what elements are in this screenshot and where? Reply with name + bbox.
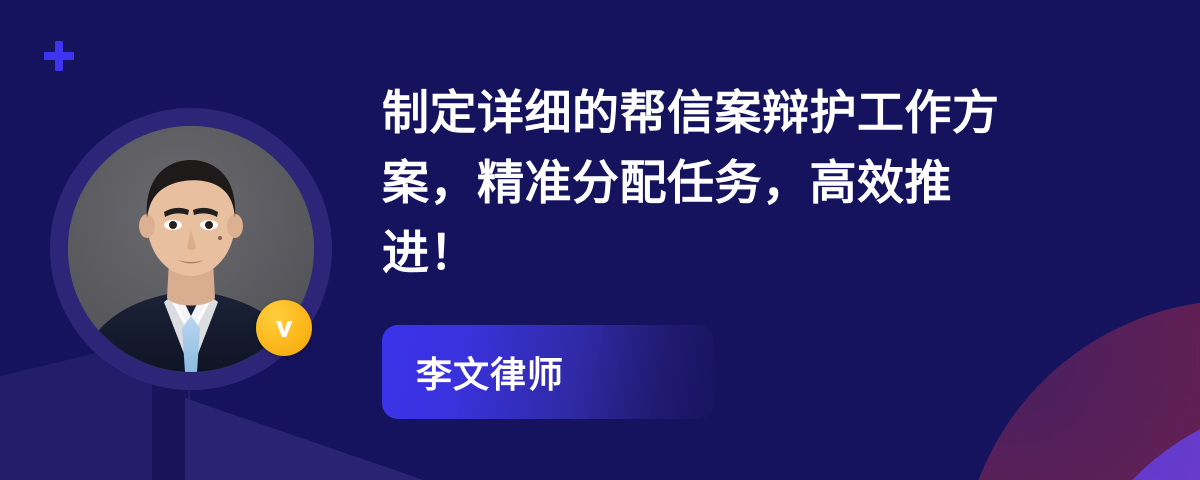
lawyer-name-label: 李文律师 [382,346,564,398]
plus-icon [44,41,74,71]
promo-banner: 制定详细的帮信案辩护工作方案，精准分配任务，高效推进！ 李文律师 [0,0,1200,480]
lawyer-name-badge[interactable]: 李文律师 [382,325,714,419]
page-title: 制定详细的帮信案辩护工作方案，精准分配任务，高效推进！ [382,78,1022,288]
verified-check-icon [256,300,312,356]
avatar [50,108,332,390]
